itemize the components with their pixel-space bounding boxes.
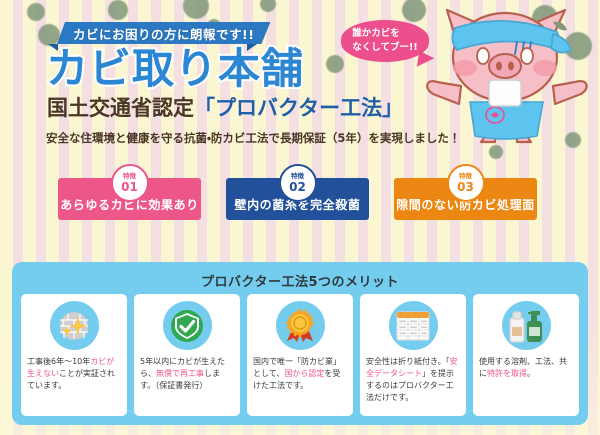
subtitle-prefix: 国土交通省認定: [47, 96, 194, 120]
data-sheet-icon: [389, 301, 438, 350]
feature-badge-02: 特徴02: [279, 164, 317, 202]
merit-card[interactable]: 国内で唯一「防カビ業」として、国から認定を受けた工法です。: [247, 294, 353, 416]
subtitle-highlight: 「プロバクター工法」: [194, 96, 403, 120]
brick-wall-sparkle-icon: [50, 301, 99, 350]
feature-badge-caption: 特徴: [123, 173, 136, 180]
shield-check-icon: [163, 301, 212, 350]
merit-card-text: 工事後6年～10年カビが生えないことが実証されています。: [27, 356, 121, 392]
mold-spot: [38, 24, 60, 46]
merit-card[interactable]: 使用する溶剤、工法、共に特許を取得。: [473, 294, 579, 416]
feature-badge-number: 01: [121, 181, 138, 193]
pig-mascot-icon: [425, 2, 595, 162]
speech-bubble: 誰かカビを なくしてブー!!: [341, 20, 429, 62]
feature-row: 特徴01あらゆるカビに効果あり特徴02壁内の菌糸を完全殺菌特徴03隙間のない防カ…: [58, 178, 558, 220]
merit-text-plain: 工事後6年～10年: [27, 357, 90, 366]
merit-card-text: 国内で唯一「防カビ業」として、国から認定を受けた工法です。: [253, 356, 347, 392]
feature-badge-caption: 特徴: [459, 173, 472, 180]
page-root: カビにお困りの方に朗報です!! カビ取り本舗 国土交通省認定「プロバクター工法」…: [0, 0, 600, 435]
merit-card[interactable]: 工事後6年～10年カビが生えないことが実証されています。: [21, 294, 127, 416]
feature-badge-caption: 特徴: [291, 173, 304, 180]
feature-box-03[interactable]: 特徴03隙間のない防カビ処理面: [394, 178, 537, 220]
mold-spot: [108, 0, 128, 20]
merit-card-list: 工事後6年～10年カビが生えないことが実証されています。 5年以内にカビが生えた…: [21, 294, 579, 416]
merit-text-plain: 。: [527, 369, 535, 378]
merit-card-text: 安全性は折り紙付き。「安全データシート」を提示するのはプロバクター工法だけです。: [366, 356, 460, 404]
spray-bottles-icon: [502, 301, 551, 350]
ribbon-banner: カビにお困りの方に朗報です!!: [57, 22, 270, 44]
merit-text-highlight: 無償で再工事: [156, 369, 204, 378]
mold-spot: [326, 55, 344, 73]
feature-badge-number: 03: [457, 181, 474, 193]
award-medal-icon: [276, 301, 325, 350]
merit-text-highlight: 国から認定: [284, 369, 324, 378]
speech-bubble-text: 誰かカビを なくしてブー!!: [352, 27, 417, 55]
feature-box-02[interactable]: 特徴02壁内の菌糸を完全殺菌: [226, 178, 369, 220]
merit-card[interactable]: 安全性は折り紙付き。「安全データシート」を提示するのはプロバクター工法だけです。: [360, 294, 466, 416]
feature-badge-03: 特徴03: [447, 164, 485, 202]
merit-panel-title: プロバクター工法5つのメリット: [12, 271, 588, 290]
mold-spot: [27, 3, 45, 21]
merit-card-text: 5年以内にカビが生えたら、無償で再工事します。（保証書発行）: [140, 356, 234, 392]
feature-box-01[interactable]: 特徴01あらゆるカビに効果あり: [58, 178, 201, 220]
merit-text-highlight: 特許を取得: [487, 369, 527, 378]
feature-badge-01: 特徴01: [111, 164, 149, 202]
merit-card[interactable]: 5年以内にカビが生えたら、無償で再工事します。（保証書発行）: [134, 294, 240, 416]
tagline: 安全な住環境と健康を守る抗菌・防カビ工法で長期保証（5年）を実現しました！: [46, 130, 460, 146]
feature-badge-number: 02: [289, 181, 306, 193]
merit-text-plain: 安全性は折り紙付き。「: [366, 357, 450, 366]
merit-card-text: 使用する溶剤、工法、共に特許を取得。: [479, 356, 573, 380]
merit-panel: プロバクター工法5つのメリット 工事後6年～10年カビが生えないことが実証されて…: [12, 262, 588, 425]
page-title: カビ取り本舗: [46, 48, 304, 90]
subtitle: 国土交通省認定「プロバクター工法」: [47, 98, 403, 119]
